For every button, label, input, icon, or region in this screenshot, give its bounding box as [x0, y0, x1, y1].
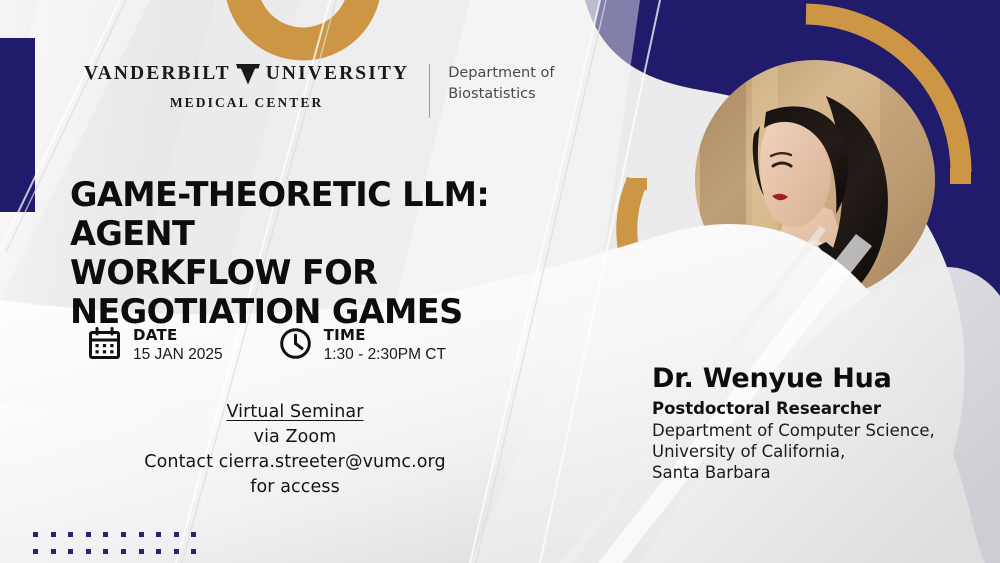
date-label: DATE: [133, 326, 223, 345]
calendar-icon: [88, 327, 121, 365]
speaker-role: Postdoctoral Researcher: [652, 399, 982, 420]
seminar-poster: VANDERBILT UNIVERSITY MEDICAL CENTER Dep…: [0, 0, 1000, 563]
logo-primary-line: VANDERBILT UNIVERSITY: [84, 62, 409, 86]
logo-subline: MEDICAL CENTER: [84, 95, 409, 111]
dot: [68, 532, 73, 537]
dot: [33, 549, 38, 554]
dot: [51, 549, 56, 554]
vanderbilt-v-shield-icon: [235, 62, 261, 86]
time-text: TIME 1:30 - 2:30PM CT: [324, 326, 446, 365]
access-suffix: for access: [60, 475, 530, 500]
access-heading: Virtual Seminar: [60, 400, 530, 425]
logo-word-university: UNIVERSITY: [266, 63, 409, 85]
speaker-block: Dr. Wenyue Hua Postdoctoral Researcher D…: [652, 363, 982, 483]
date-value: 15 JAN 2025: [133, 345, 223, 365]
event-meta: DATE 15 JAN 2025 TIME 1:30 - 2:30PM CT: [88, 326, 446, 365]
dot: [86, 549, 91, 554]
dot: [51, 532, 56, 537]
dot: [103, 532, 108, 537]
department-line-2: Biostatistics: [448, 84, 554, 105]
time-block: TIME 1:30 - 2:30PM CT: [279, 326, 446, 365]
access-contact[interactable]: Contact cierra.streeter@vumc.org: [60, 450, 530, 475]
dot-row: [33, 532, 196, 537]
dot-grid: [33, 532, 196, 563]
time-value: 1:30 - 2:30PM CT: [324, 345, 446, 365]
title-line-1: GAME-THEORETIC LLM: AGENT: [70, 176, 600, 254]
department-line-1: Department of: [448, 63, 554, 84]
department-label: Department of Biostatistics: [448, 62, 554, 104]
speaker-affiliation-line-1: Department of Computer Science,: [652, 420, 982, 441]
dot: [191, 532, 196, 537]
access-platform: via Zoom: [60, 425, 530, 450]
logo-wordmark: VANDERBILT UNIVERSITY MEDICAL CENTER: [84, 62, 409, 111]
speaker-affiliation-line-3: Santa Barbara: [652, 462, 982, 483]
dot: [156, 549, 161, 554]
speaker-affiliation-line-2: University of California,: [652, 441, 982, 462]
dot: [174, 549, 179, 554]
logo-divider: [429, 64, 430, 118]
access-info: Virtual Seminar via Zoom Contact cierra.…: [60, 400, 530, 500]
date-text: DATE 15 JAN 2025: [133, 326, 223, 365]
dot: [139, 549, 144, 554]
dot: [121, 532, 126, 537]
dot: [156, 532, 161, 537]
date-block: DATE 15 JAN 2025: [88, 326, 223, 365]
logo-word-vanderbilt: VANDERBILT: [84, 63, 231, 85]
dot: [174, 532, 179, 537]
time-label: TIME: [324, 326, 446, 345]
speaker-name: Dr. Wenyue Hua: [652, 363, 982, 394]
dot: [139, 532, 144, 537]
dot: [121, 549, 126, 554]
seminar-title: GAME-THEORETIC LLM: AGENT WORKFLOW FOR N…: [70, 176, 600, 331]
dot: [103, 549, 108, 554]
vanderbilt-logo: VANDERBILT UNIVERSITY MEDICAL CENTER Dep…: [84, 62, 555, 118]
dot-row: [33, 549, 196, 554]
clock-icon: [279, 327, 312, 365]
title-line-2: WORKFLOW FOR: [70, 254, 600, 293]
dot: [86, 532, 91, 537]
dot: [33, 532, 38, 537]
dot: [68, 549, 73, 554]
dot: [191, 549, 196, 554]
